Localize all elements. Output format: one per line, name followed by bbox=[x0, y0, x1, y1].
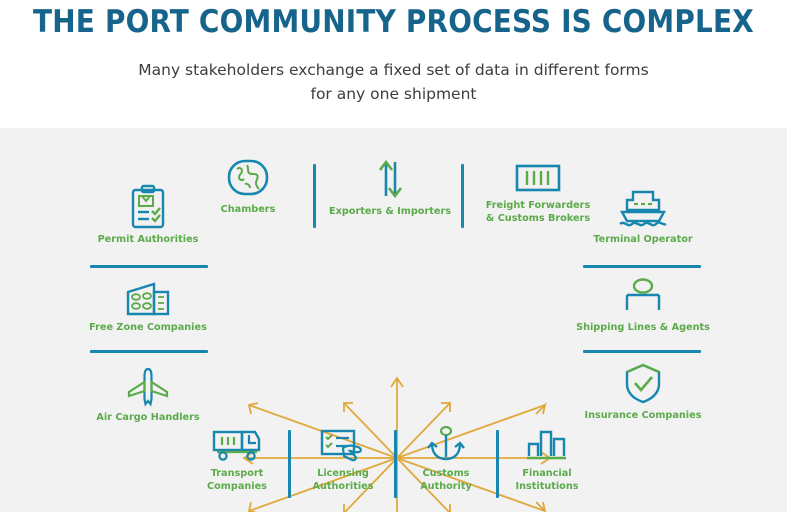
node-label: Customs Authority bbox=[400, 468, 492, 493]
node-transport-companies[interactable]: Transport Companies bbox=[185, 426, 289, 493]
node-label: Permit Authorities bbox=[78, 234, 218, 247]
node-label: Free Zone Companies bbox=[78, 322, 218, 335]
divider-top-2 bbox=[461, 164, 464, 228]
ship-icon bbox=[615, 188, 671, 230]
divider-left-2 bbox=[90, 350, 208, 353]
buildings-icon bbox=[122, 278, 174, 318]
bank-chart-icon bbox=[523, 426, 571, 464]
divider-bottom-3 bbox=[496, 430, 499, 498]
node-label: Financial Institutions bbox=[500, 468, 594, 493]
cargo-ship-icon bbox=[615, 276, 671, 318]
node-air-cargo-handlers[interactable]: Air Cargo Handlers bbox=[78, 366, 218, 425]
clipboard-check-icon bbox=[126, 184, 170, 230]
node-label: Chambers bbox=[185, 204, 311, 217]
license-checklist-icon bbox=[317, 426, 369, 464]
node-label: Insurance Companies bbox=[572, 410, 714, 423]
anchor-icon bbox=[424, 426, 468, 464]
infographic-root: THE PORT COMMUNITY PROCESS IS COMPLEX Ma… bbox=[0, 0, 787, 512]
node-label: Air Cargo Handlers bbox=[78, 412, 218, 425]
divider-left-1 bbox=[90, 265, 208, 268]
up-down-arrows-icon bbox=[373, 156, 407, 202]
node-label: Terminal Operator bbox=[572, 234, 714, 247]
node-insurance-companies[interactable]: Insurance Companies bbox=[572, 360, 714, 423]
header: THE PORT COMMUNITY PROCESS IS COMPLEX Ma… bbox=[0, 0, 787, 128]
subtitle-line-2: for any one shipment bbox=[0, 82, 787, 106]
subtitle-line-1: Many stakeholders exchange a fixed set o… bbox=[138, 61, 648, 79]
node-label: Shipping Lines & Agents bbox=[572, 322, 714, 335]
globe-icon bbox=[225, 156, 271, 200]
node-financial-institutions[interactable]: Financial Institutions bbox=[500, 426, 594, 493]
divider-right-2 bbox=[583, 350, 701, 353]
node-terminal-operator[interactable]: Terminal Operator bbox=[572, 188, 714, 247]
diagram-canvas: Permit Authorities Free Zone Companies bbox=[0, 128, 787, 512]
airplane-icon bbox=[125, 366, 171, 408]
divider-right-1 bbox=[583, 265, 701, 268]
truck-icon bbox=[209, 426, 265, 464]
divider-bottom-1 bbox=[288, 430, 291, 498]
node-label: Transport Companies bbox=[185, 468, 289, 493]
container-icon bbox=[512, 162, 564, 196]
node-chambers[interactable]: Chambers bbox=[185, 156, 311, 217]
shield-check-icon bbox=[620, 360, 666, 406]
page-subtitle: Many stakeholders exchange a fixed set o… bbox=[0, 58, 787, 106]
node-customs-authority[interactable]: Customs Authority bbox=[400, 426, 492, 493]
node-exporters-importers[interactable]: Exporters & Importers bbox=[325, 156, 455, 219]
node-licensing-authorities[interactable]: Licensing Authorities bbox=[295, 426, 391, 493]
node-label: Licensing Authorities bbox=[295, 468, 391, 493]
divider-bottom-2 bbox=[394, 430, 397, 498]
page-title: THE PORT COMMUNITY PROCESS IS COMPLEX bbox=[0, 4, 787, 40]
node-shipping-lines-agents[interactable]: Shipping Lines & Agents bbox=[572, 276, 714, 335]
node-free-zone-companies[interactable]: Free Zone Companies bbox=[78, 278, 218, 335]
node-label: Exporters & Importers bbox=[325, 206, 455, 219]
divider-top-1 bbox=[313, 164, 316, 228]
